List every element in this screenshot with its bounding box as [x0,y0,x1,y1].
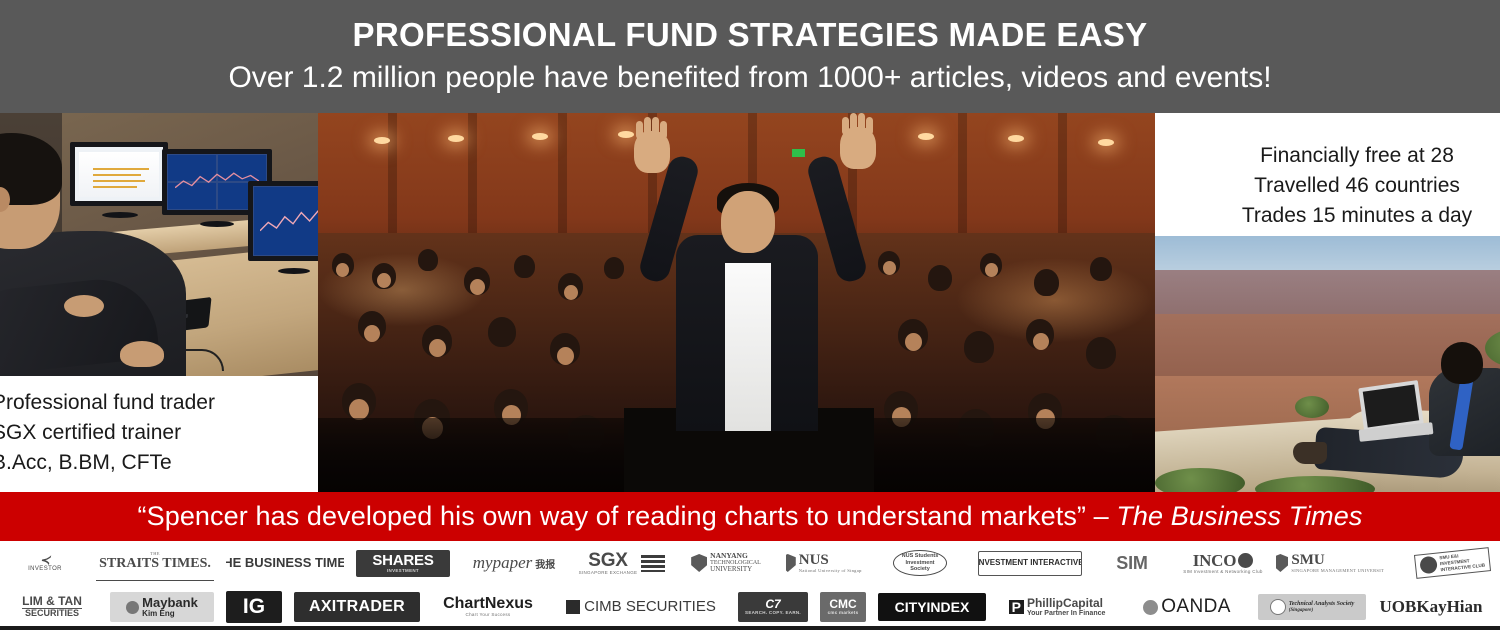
right-caption-line-3: Trades 15 minutes a day [1155,201,1500,231]
logo-smu[interactable]: SMU SINGAPORE MANAGEMENT UNIVERSITY [1276,545,1384,581]
monitor-left [70,142,168,206]
logo-oanda[interactable]: OANDA [1128,589,1246,625]
exit-sign [792,149,805,157]
left-caption-box: Professional fund trader SGX certified t… [0,376,318,492]
logo-lim-and-tan-securities[interactable]: LIM & TAN SECURITIES [6,589,98,625]
left-caption-line-1: Professional fund trader [0,388,318,418]
left-caption-line-3: B.Acc, B.BM, CFTe [0,448,318,478]
speaker-right-hand [840,127,876,169]
logo-uob-kayhian[interactable]: UOBKayHian [1378,589,1484,625]
logo-ig[interactable]: IG [226,591,282,623]
logo-cmc-markets[interactable]: CMC cmc markets [820,592,866,622]
logo-the-business-times[interactable]: THE BUSINESS TIMES [226,545,344,581]
logo-c7[interactable]: C7 SEARCH. COPY. EARN. [738,592,808,622]
canyon-laptop-photo [1155,236,1500,492]
logo-cityindex[interactable]: CITYINDEX [878,593,986,621]
speaker-torso [676,235,818,431]
page-subtitle: Over 1.2 million people have benefited f… [0,56,1500,100]
logo-axitrader[interactable]: AXITRADER [294,592,420,622]
speaker-left-hand [634,131,670,173]
logo-technical-analysts-society[interactable]: Technical Analysts Society (Singapore) [1258,594,1366,620]
chart-line-icon [175,171,259,193]
promotional-banner: PROFESSIONAL FUND STRATEGIES MADE EASY O… [0,0,1500,630]
testimonial-text: “Spencer has developed his own way of re… [138,501,1363,532]
logo-the-straits-times[interactable]: THE STRAITS TIMES. [96,545,214,581]
nus-crest-icon [786,554,796,572]
logo-sim[interactable]: SIM [1094,545,1170,581]
monitor-left-content [79,152,159,197]
photo-strip: Professional fund trader SGX certified t… [0,113,1500,492]
logo-cimb-securities[interactable]: CIMB SECURITIES [556,589,726,625]
trader-desk-photo [0,113,318,376]
logo-sgx[interactable]: SGX SINGAPORE EXCHANGE [578,545,666,581]
sgx-bars-icon [641,555,665,572]
right-caption-box: Financially free at 28 Travelled 46 coun… [1155,113,1500,236]
partner-logo-bar: ≺ INVESTOR THE STRAITS TIMES. THE BUSINE… [0,541,1500,630]
logo-tradehero[interactable]: TradeHero [1496,589,1500,625]
page-title: PROFESSIONAL FUND STRATEGIES MADE EASY [0,14,1500,56]
hiker-foot [1293,442,1327,464]
right-caption-line-1: Financially free at 28 [1155,141,1500,171]
right-caption-line-2: Travelled 46 countries [1155,171,1500,201]
logo-row-2: LIM & TAN SECURITIES Maybank Kim Eng IG … [0,585,1500,629]
logo-ntu[interactable]: NANYANG TECHNOLOGICAL UNIVERSITY [678,545,774,581]
logo-theedge-investor-text: INVESTOR [28,566,62,572]
logo-theedge-investor[interactable]: ≺ INVESTOR [6,545,84,581]
chart-line-icon [260,207,318,235]
monitor-right [248,181,318,261]
logo-nus[interactable]: NUS National University of Singapore [786,545,862,581]
ntu-crest-icon [691,554,707,572]
header-bar: PROFESSIONAL FUND STRATEGIES MADE EASY O… [0,0,1500,113]
logo-investment-interactive[interactable]: INVESTMENT INTERACTIVE [978,551,1082,576]
bottom-divider [0,626,1500,630]
audience-event-photo [318,113,1155,492]
left-caption-line-2: SGX certified trainer [0,418,318,448]
speaker-head [721,191,775,253]
logo-inco[interactable]: INCO SIM Investment & Networking Club [1182,545,1264,581]
logo-smu-investment-interactive-club[interactable]: SMU E&I INVESTMENT INTERACTIVE CLUB [1396,545,1500,581]
testimonial-banner: “Spencer has developed his own way of re… [0,492,1500,541]
logo-nus-students-investment-society[interactable]: NUS Students Investment Society [874,545,966,581]
logo-maybank-kim-eng[interactable]: Maybank Kim Eng [110,592,214,622]
logo-chartnexus[interactable]: ChartNexus Chart Your Success [432,589,544,625]
trader-hand-on-keyboard [64,295,104,317]
speaker-shirt [725,263,771,431]
trader-hand-on-mouse [120,341,164,367]
logo-shares-investment[interactable]: SHARES INVESTMENT [356,550,450,577]
smu-crest-icon [1276,554,1288,572]
logo-row-1: ≺ INVESTOR THE STRAITS TIMES. THE BUSINE… [0,541,1500,585]
logo-phillipcapital[interactable]: P PhillipCapital Your Partner In Finance [998,589,1116,625]
hiker-head [1441,342,1483,384]
testimonial-source: The Business Times [1116,501,1362,531]
logo-mypaper[interactable]: mypaper 我报 [462,545,566,581]
testimonial-quote: “Spencer has developed his own way of re… [138,501,1117,531]
